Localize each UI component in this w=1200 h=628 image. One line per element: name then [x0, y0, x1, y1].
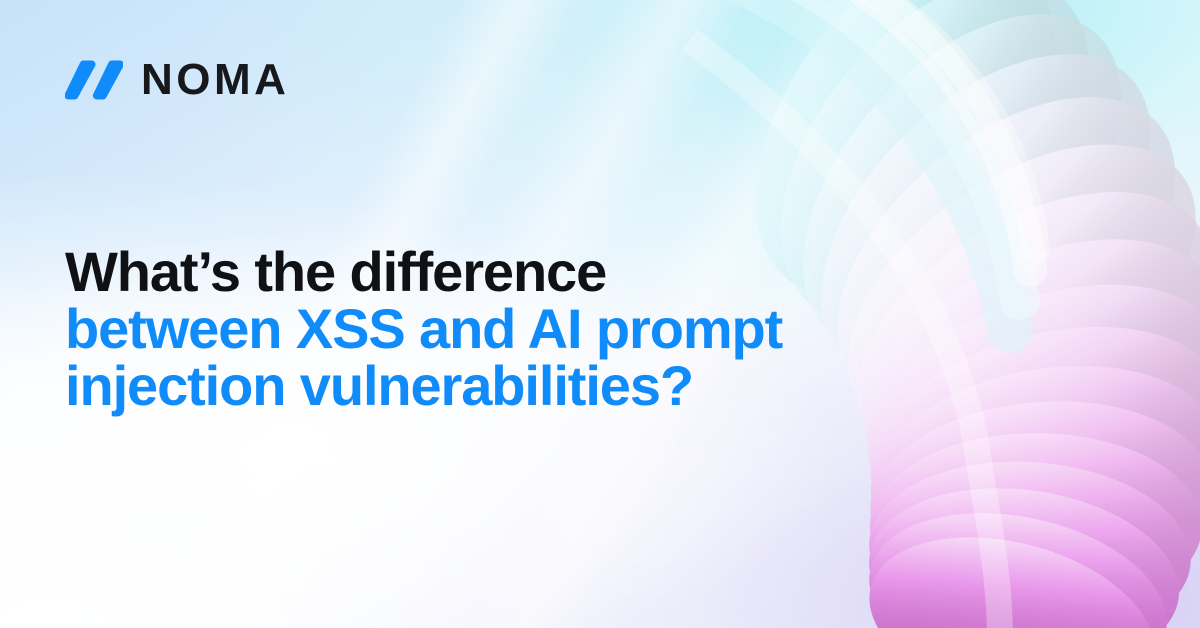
headline-line-3: injection vulnerabilities? — [65, 357, 885, 414]
headline: What’s the difference between XSS and AI… — [65, 243, 885, 414]
headline-line-1: What’s the difference — [65, 243, 885, 300]
headline-line-2: between XSS and AI prompt — [65, 300, 885, 357]
social-card: NOMA What’s the difference between XSS a… — [0, 0, 1200, 628]
noma-chevrons-icon — [65, 59, 123, 101]
brand-logo[interactable]: NOMA — [65, 58, 289, 102]
brand-wordmark: NOMA — [141, 58, 289, 102]
